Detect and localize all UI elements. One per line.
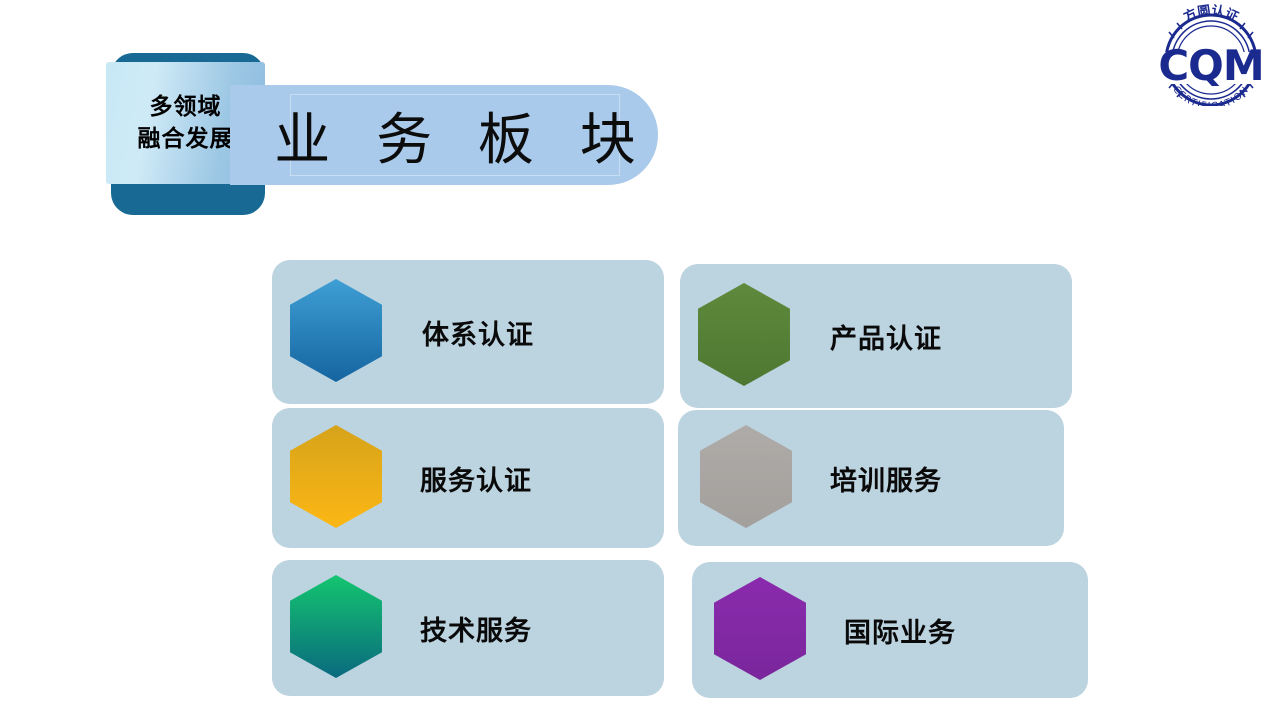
segment-card-label: 国际业务 [844, 611, 956, 650]
hexagon-teal-icon [290, 575, 382, 682]
hexagon-gold-icon [290, 425, 382, 532]
hexagon-gray-icon [700, 425, 792, 532]
segment-card-label: 产品认证 [830, 317, 942, 356]
business-segment-grid: 体系认证产品认证服务认证培训服务技术服务国际业务 [0, 0, 1280, 720]
segment-card[interactable]: 体系认证 [272, 260, 664, 404]
segment-card-label: 技术服务 [420, 609, 532, 648]
segment-card-label: 培训服务 [830, 459, 942, 498]
hexagon-green-icon [698, 283, 790, 390]
hexagon-purple-icon [714, 577, 806, 684]
hexagon-blue-icon [290, 279, 382, 386]
segment-card-label: 服务认证 [420, 459, 532, 498]
segment-card[interactable]: 服务认证 [272, 408, 664, 548]
segment-card[interactable]: 产品认证 [680, 264, 1072, 408]
segment-card[interactable]: 国际业务 [692, 562, 1088, 698]
segment-card[interactable]: 培训服务 [678, 410, 1064, 546]
segment-card-label: 体系认证 [422, 313, 534, 352]
segment-card[interactable]: 技术服务 [272, 560, 664, 696]
